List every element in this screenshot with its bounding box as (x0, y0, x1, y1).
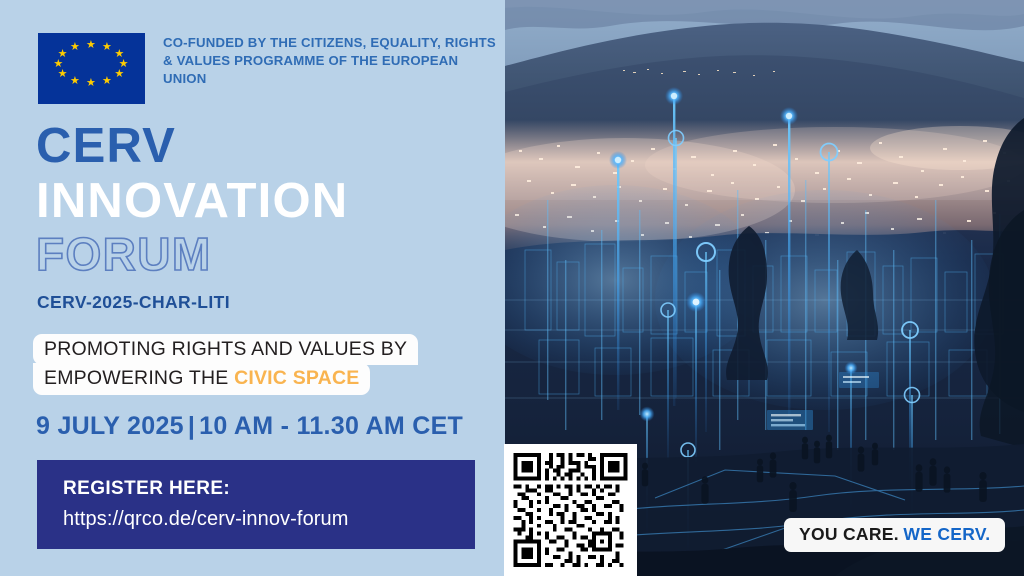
tagline-accent-civic-space: CIVIC SPACE (234, 367, 359, 389)
poster-canvas: CO-FUNDED BY THE CITIZENS, EQUALITY, RIG… (0, 0, 1024, 576)
event-schedule: 9 JULY 2025|10 AM - 11.30 AM CET (36, 412, 463, 441)
left-content-panel: CO-FUNDED BY THE CITIZENS, EQUALITY, RIG… (0, 0, 505, 576)
register-callout[interactable]: REGISTER HERE: https://qrco.de/cerv-inno… (37, 460, 475, 549)
register-heading: REGISTER HERE: (63, 476, 475, 502)
european-union-flag-icon (38, 33, 145, 104)
registration-qr-code[interactable] (504, 444, 637, 576)
page-title-innovation: INNOVATION (36, 177, 348, 226)
slogan-badge: YOU CARE. WE CERV. (784, 518, 1005, 552)
register-url-link[interactable]: https://qrco.de/cerv-innov-forum (63, 505, 475, 534)
slogan-part-we-cerv: WE CERV. (903, 524, 990, 544)
event-time: 10 AM - 11.30 AM CET (199, 412, 463, 440)
eu-funding-statement: CO-FUNDED BY THE CITIZENS, EQUALITY, RIG… (163, 33, 505, 89)
slogan-part-you-care: YOU CARE. (799, 524, 899, 544)
tagline-line-1: PROMOTING RIGHTS AND VALUES BY (33, 334, 418, 365)
tagline-block: PROMOTING RIGHTS AND VALUES BY EMPOWERIN… (33, 334, 453, 395)
tagline-line-2: EMPOWERING THE CIVIC SPACE (33, 363, 370, 394)
page-title-forum: FORUM (36, 231, 212, 277)
call-identifier: CERV-2025-CHAR-LITI (37, 292, 230, 313)
page-title-cerv: CERV (36, 122, 176, 171)
schedule-separator: | (184, 412, 199, 440)
tagline-line-2-prefix: EMPOWERING THE (44, 367, 234, 389)
event-date: 9 JULY 2025 (36, 412, 184, 440)
eu-funding-lockup: CO-FUNDED BY THE CITIZENS, EQUALITY, RIG… (38, 33, 505, 104)
